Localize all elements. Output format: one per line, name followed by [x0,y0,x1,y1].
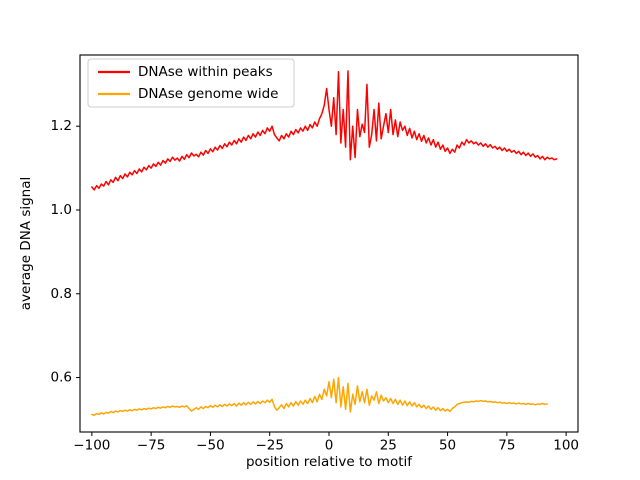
x-tick-label: −50 [196,438,225,454]
x-tick-label: 25 [380,438,397,454]
x-tick-label: 0 [325,438,334,454]
y-tick-label: 0.6 [51,370,72,386]
y-tick-label: 1.0 [51,202,72,218]
x-axis-title: position relative to motif [246,454,413,470]
y-tick-label: 1.2 [51,118,72,134]
figure-canvas: −100−75−50−2502550751000.60.81.01.2posit… [0,0,640,480]
x-tick-label: −25 [255,438,284,454]
legend-label-1: DNAse genome wide [138,86,278,102]
data-series-group [92,71,557,415]
x-tick-label: −75 [137,438,166,454]
x-tick-label: 50 [439,438,456,454]
x-tick-label: 100 [553,438,579,454]
x-tick-label: −100 [73,438,110,454]
series-line-1 [92,378,547,416]
chart-legend[interactable]: DNAse within peaksDNAse genome wide [88,59,294,107]
y-tick-label: 0.8 [51,286,72,302]
ticks-group [76,126,566,436]
legend-label-0: DNAse within peaks [138,64,273,80]
axis-labels-group: −100−75−50−2502550751000.60.81.01.2posit… [18,118,579,470]
x-tick-label: 75 [498,438,515,454]
y-axis-title: average DNA signal [18,177,34,311]
chart-plot: −100−75−50−2502550751000.60.81.01.2posit… [0,0,640,480]
